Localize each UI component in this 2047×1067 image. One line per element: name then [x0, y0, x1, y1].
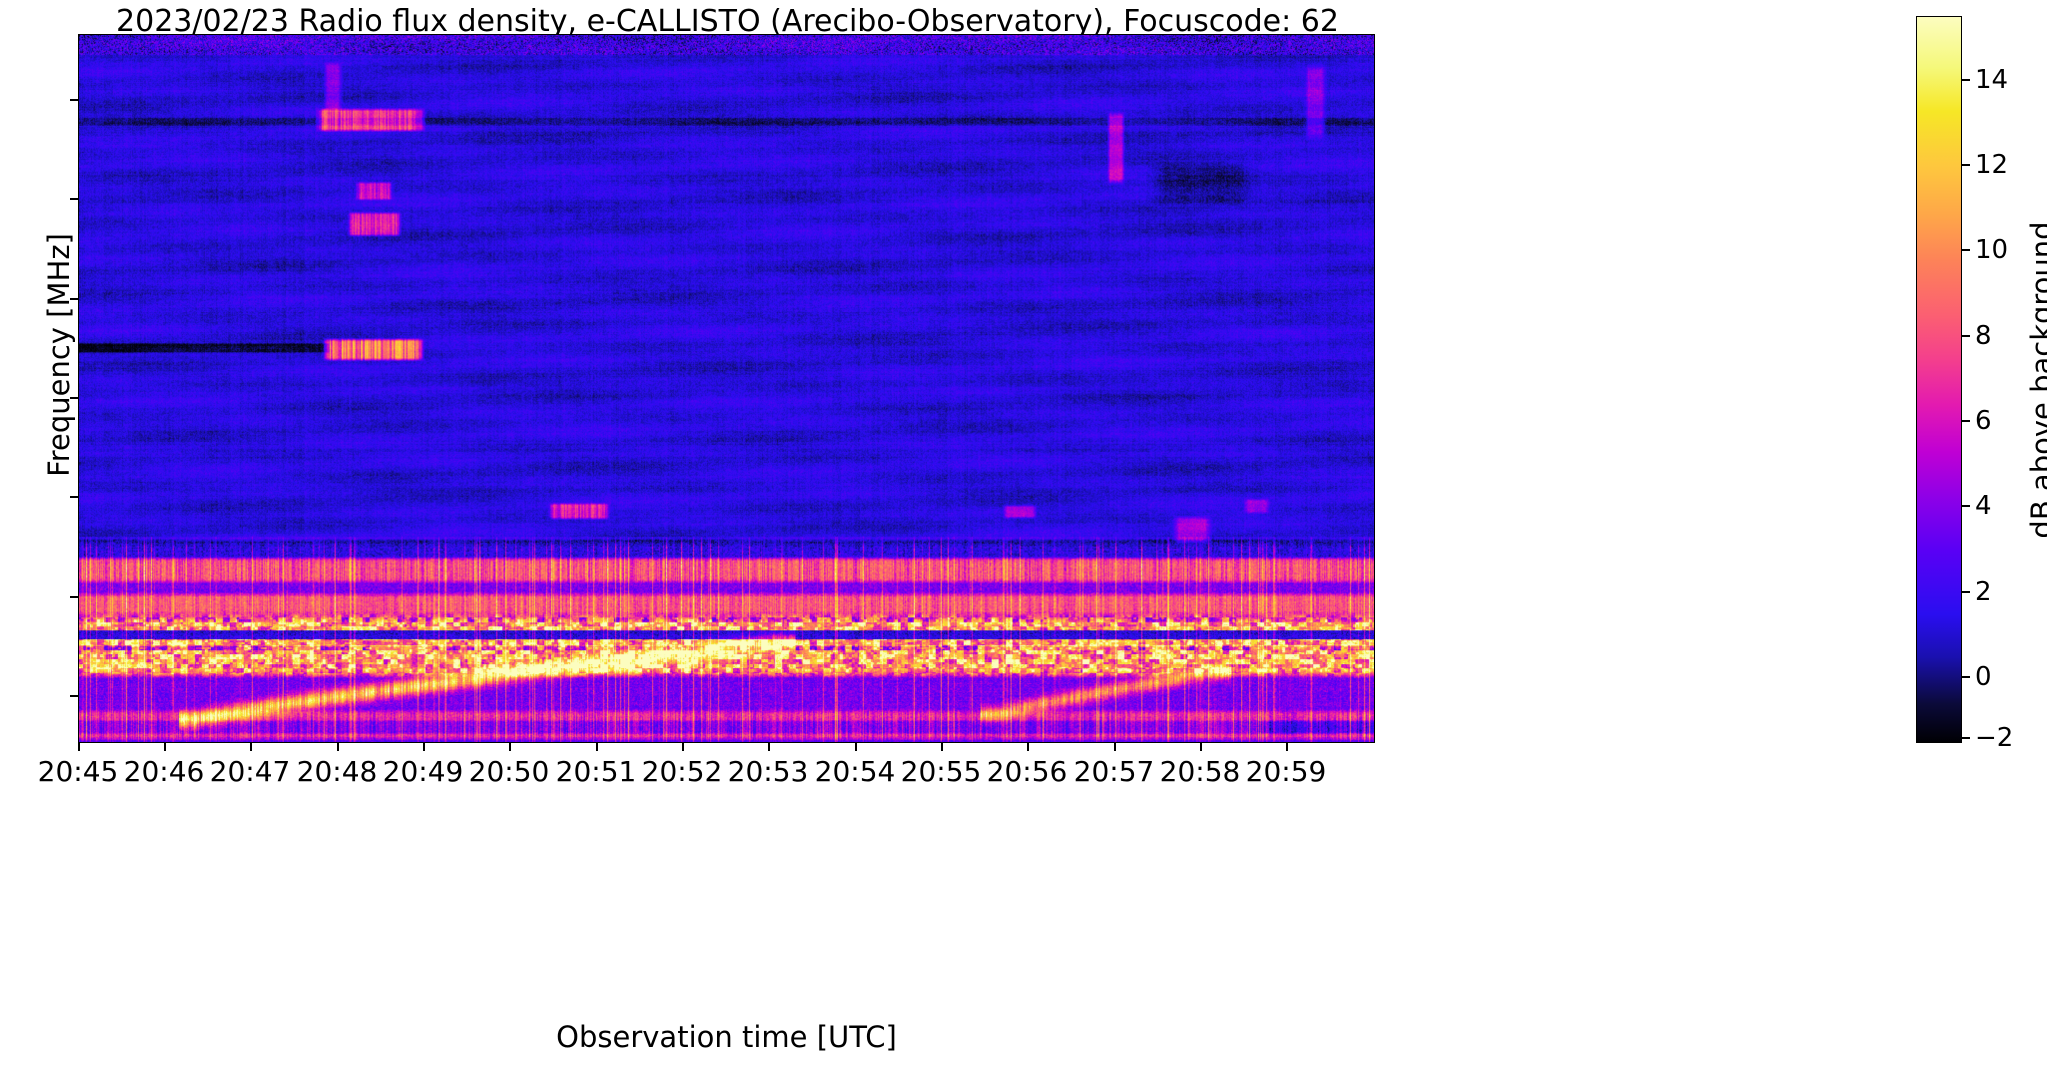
- colorbar-tick-mark-6: [1962, 420, 1970, 422]
- colorbar-tick-label-8: 8: [1975, 323, 1992, 349]
- figure-canvas: 2023/02/23 Radio flux density, e-CALLIST…: [0, 0, 2047, 1067]
- colorbar-tick-label-4: 4: [1975, 493, 1992, 519]
- x-tick-mark-8: [768, 743, 770, 751]
- x-tick-mark-3: [337, 743, 339, 751]
- colorbar-tick-mark-10: [1962, 249, 1970, 251]
- x-tick-label-2059: 20:59: [1226, 758, 1346, 786]
- y-tick-mark-40: [70, 496, 78, 498]
- colorbar-tick-label-2: 2: [1975, 579, 1992, 605]
- colorbar-gradient: [1917, 17, 1961, 742]
- x-tick-mark-13: [1200, 743, 1202, 751]
- colorbar-tick-label-10: 10: [1975, 237, 2008, 263]
- colorbar-tick-mark-m2: [1962, 737, 1970, 739]
- colorbar-tick-mark-14: [1962, 79, 1970, 81]
- x-tick-mark-2: [250, 743, 252, 751]
- colorbar: [1916, 16, 1962, 743]
- colorbar-tick-mark-4: [1962, 505, 1970, 507]
- spectrogram-plot-area: [78, 34, 1375, 743]
- x-tick-mark-4: [423, 743, 425, 751]
- x-tick-mark-5: [509, 743, 511, 751]
- y-tick-mark-30: [70, 596, 78, 598]
- y-tick-mark-50: [70, 397, 78, 399]
- x-tick-mark-12: [1114, 743, 1116, 751]
- colorbar-tick-label-12: 12: [1975, 152, 2008, 178]
- x-tick-mark-6: [596, 743, 598, 751]
- spectrogram-image: [79, 35, 1374, 742]
- colorbar-tick-label-14: 14: [1975, 67, 2008, 93]
- x-tick-mark-10: [941, 743, 943, 751]
- colorbar-tick-mark-2: [1962, 591, 1970, 593]
- y-tick-mark-20: [70, 695, 78, 697]
- y-axis-label: Frequency [MHz]: [42, 0, 76, 735]
- colorbar-tick-label-0: 0: [1975, 664, 1992, 690]
- colorbar-tick-mark-0: [1962, 676, 1970, 678]
- colorbar-tick-label-minus2: −2: [1975, 725, 2013, 751]
- x-tick-mark-14: [1286, 743, 1288, 751]
- y-tick-mark-70: [70, 198, 78, 200]
- y-tick-mark-80: [70, 99, 78, 101]
- x-tick-mark-11: [1027, 743, 1029, 751]
- x-tick-mark-7: [682, 743, 684, 751]
- colorbar-label: dB above background: [2025, 30, 2047, 730]
- x-tick-mark-0: [78, 743, 80, 751]
- x-tick-mark-1: [164, 743, 166, 751]
- colorbar-tick-mark-12: [1962, 164, 1970, 166]
- colorbar-tick-label-6: 6: [1975, 408, 1992, 434]
- colorbar-tick-mark-8: [1962, 335, 1970, 337]
- x-axis-label: Observation time [UTC]: [78, 1020, 1375, 1054]
- x-tick-mark-9: [855, 743, 857, 751]
- y-tick-mark-60: [70, 298, 78, 300]
